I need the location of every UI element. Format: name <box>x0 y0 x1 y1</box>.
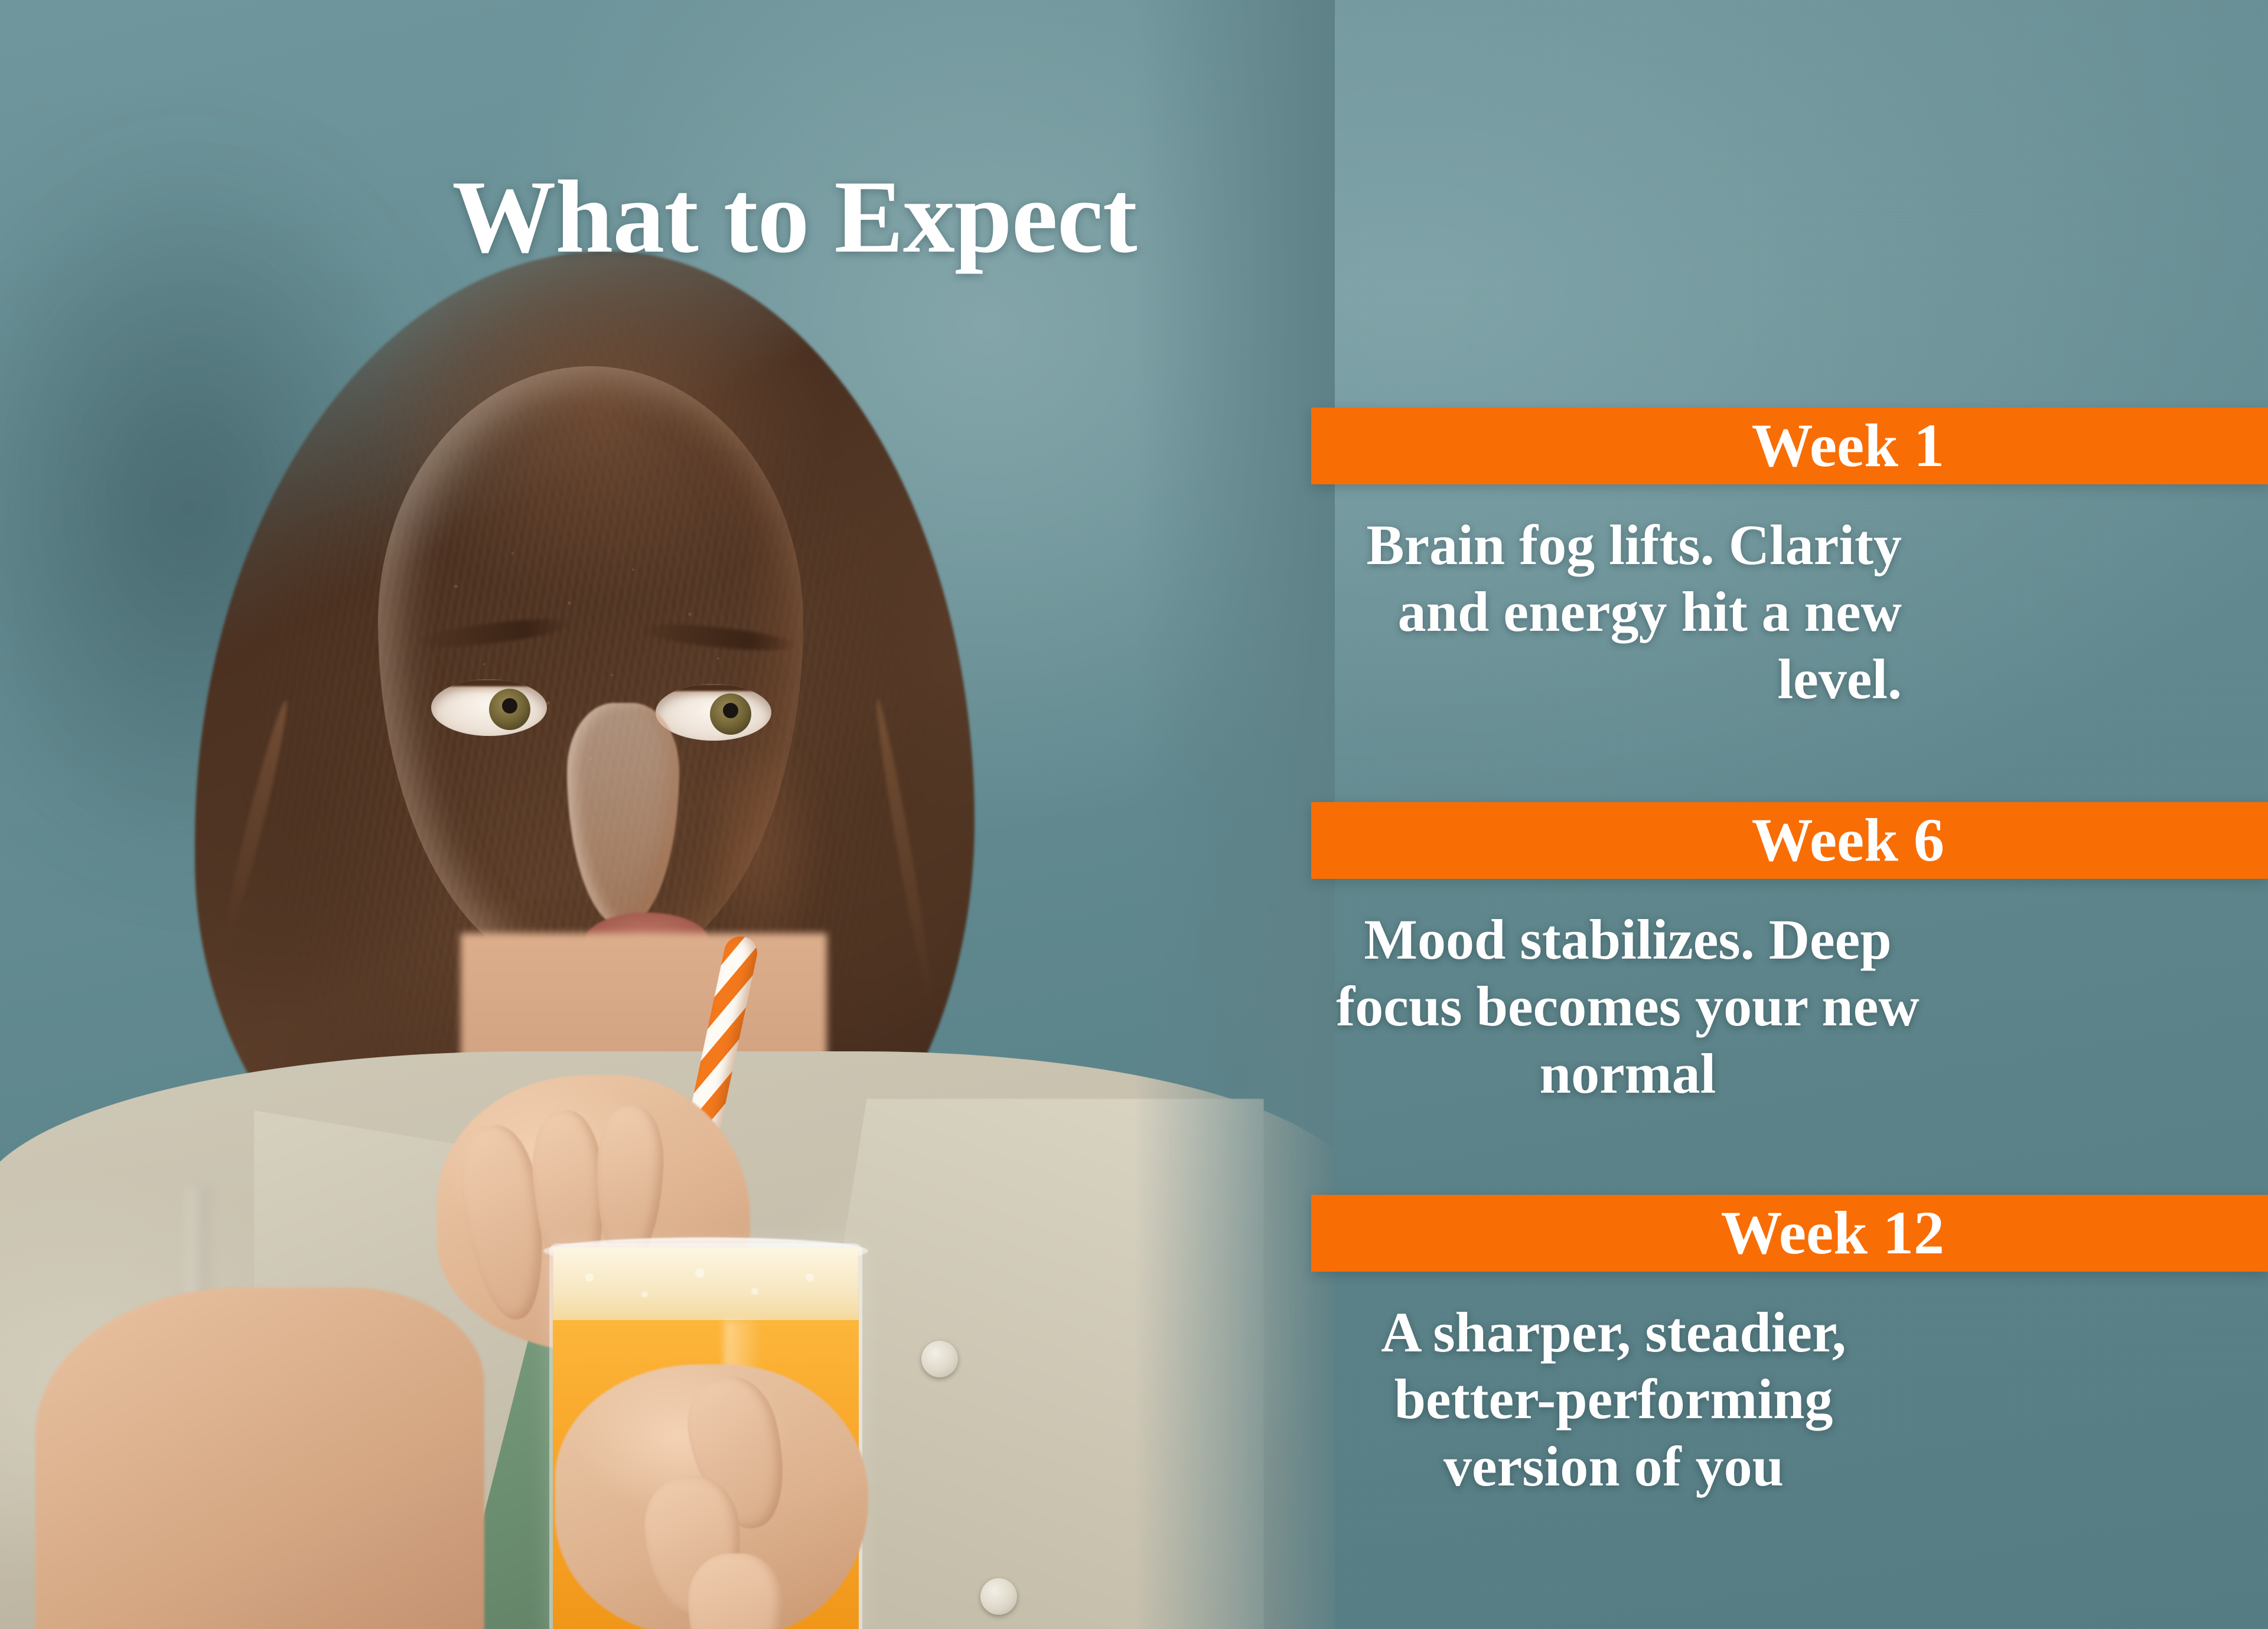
timeline-block-week-1: Week 1 Brain fog lifts. Clarity and ener… <box>1311 408 2268 712</box>
status-badge-week-1: Week 1 <box>1311 408 2268 484</box>
badge-label: Week 6 <box>1752 810 1944 871</box>
eye-right <box>656 684 771 741</box>
status-badge-week-6: Week 6 <box>1311 802 2268 879</box>
finger <box>688 1553 783 1629</box>
eyelash <box>656 684 771 691</box>
shirt-button <box>980 1578 1017 1615</box>
page-title: What to Expect <box>0 165 2268 269</box>
status-badge-week-12: Week 12 <box>1311 1195 2268 1272</box>
eyelash <box>431 679 547 686</box>
badge-label: Week 1 <box>1752 415 1944 477</box>
juice-foam <box>553 1247 859 1324</box>
timeline-body-week-1: Brain fog lifts. Clarity and energy hit … <box>1311 511 2268 712</box>
shirt-button <box>921 1341 958 1377</box>
slide-canvas: What to Expect Week 1 Brain fog lifts. C… <box>0 0 2268 1629</box>
foam-bubbles <box>553 1247 859 1324</box>
timeline-body-week-6: Mood stabilizes. Deep focus becomes your… <box>1311 906 2268 1107</box>
arm <box>35 1288 484 1629</box>
timeline-block-week-6: Week 6 Mood stabilizes. Deep focus becom… <box>1311 802 2268 1107</box>
iris <box>489 689 530 730</box>
pupil <box>723 703 738 718</box>
timeline-body-week-12: A sharper, steadier, better-performing v… <box>1311 1299 2268 1500</box>
pupil <box>502 698 517 713</box>
eye-left <box>431 679 547 736</box>
badge-label: Week 12 <box>1721 1203 1944 1264</box>
iris <box>710 693 751 735</box>
timeline-block-week-12: Week 12 A sharper, steadier, better-perf… <box>1311 1195 2268 1500</box>
